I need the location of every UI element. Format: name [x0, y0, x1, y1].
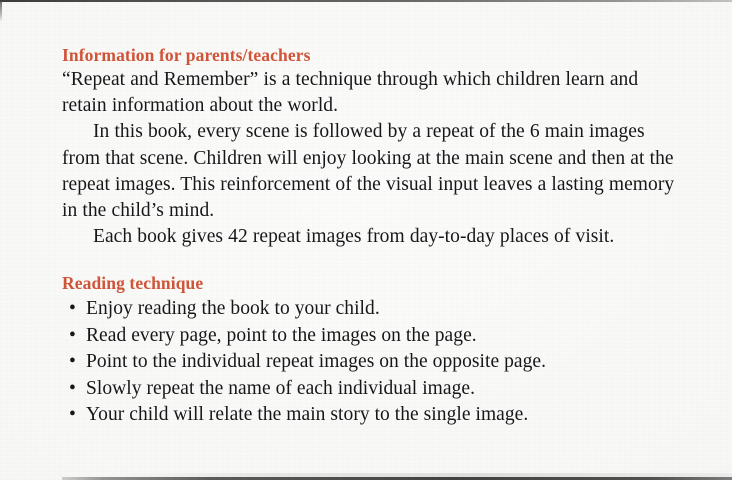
text-column: Information for parents/teachers “Repeat… [62, 44, 686, 428]
scan-edge-top [0, 0, 732, 2]
section-parents-teachers: Information for parents/teachers “Repeat… [62, 44, 686, 250]
bullet-dot-icon: • [69, 402, 76, 428]
list-item: • Slowly repeat the name of each individ… [62, 376, 686, 402]
paragraph-in-this-book: In this book, every scene is followed by… [62, 119, 686, 224]
list-item-label: Read every page, point to the images on … [86, 325, 477, 346]
list-item-label: Your child will relate the main story to… [86, 404, 528, 425]
list-item-label: Enjoy reading the book to your child. [86, 298, 380, 319]
scan-edge-left [0, 0, 2, 22]
scanned-book-page: Information for parents/teachers “Repeat… [0, 0, 732, 480]
list-item: • Read every page, point to the images o… [62, 323, 686, 349]
paragraph-repeat-and-remember: “Repeat and Remember” is a technique thr… [62, 67, 686, 119]
bullet-dot-icon: • [69, 296, 76, 322]
section-reading-technique: Reading technique • Enjoy reading the bo… [62, 272, 686, 428]
list-item-label: Point to the individual repeat images on… [86, 351, 546, 372]
list-item: • Point to the individual repeat images … [62, 349, 686, 375]
list-item: • Your child will relate the main story … [62, 402, 686, 428]
paragraph-each-book-gives: Each book gives 42 repeat images from da… [62, 224, 686, 250]
bullet-dot-icon: • [69, 376, 76, 402]
bullet-dot-icon: • [69, 349, 76, 375]
section-heading-parents-teachers: Information for parents/teachers [62, 44, 686, 66]
bullet-dot-icon: • [69, 323, 76, 349]
list-item: • Enjoy reading the book to your child. [62, 296, 686, 322]
section-spacer [62, 250, 686, 272]
reading-technique-list: • Enjoy reading the book to your child. … [62, 296, 686, 428]
list-item-label: Slowly repeat the name of each individua… [86, 378, 475, 399]
section-heading-reading-technique: Reading technique [62, 272, 686, 294]
